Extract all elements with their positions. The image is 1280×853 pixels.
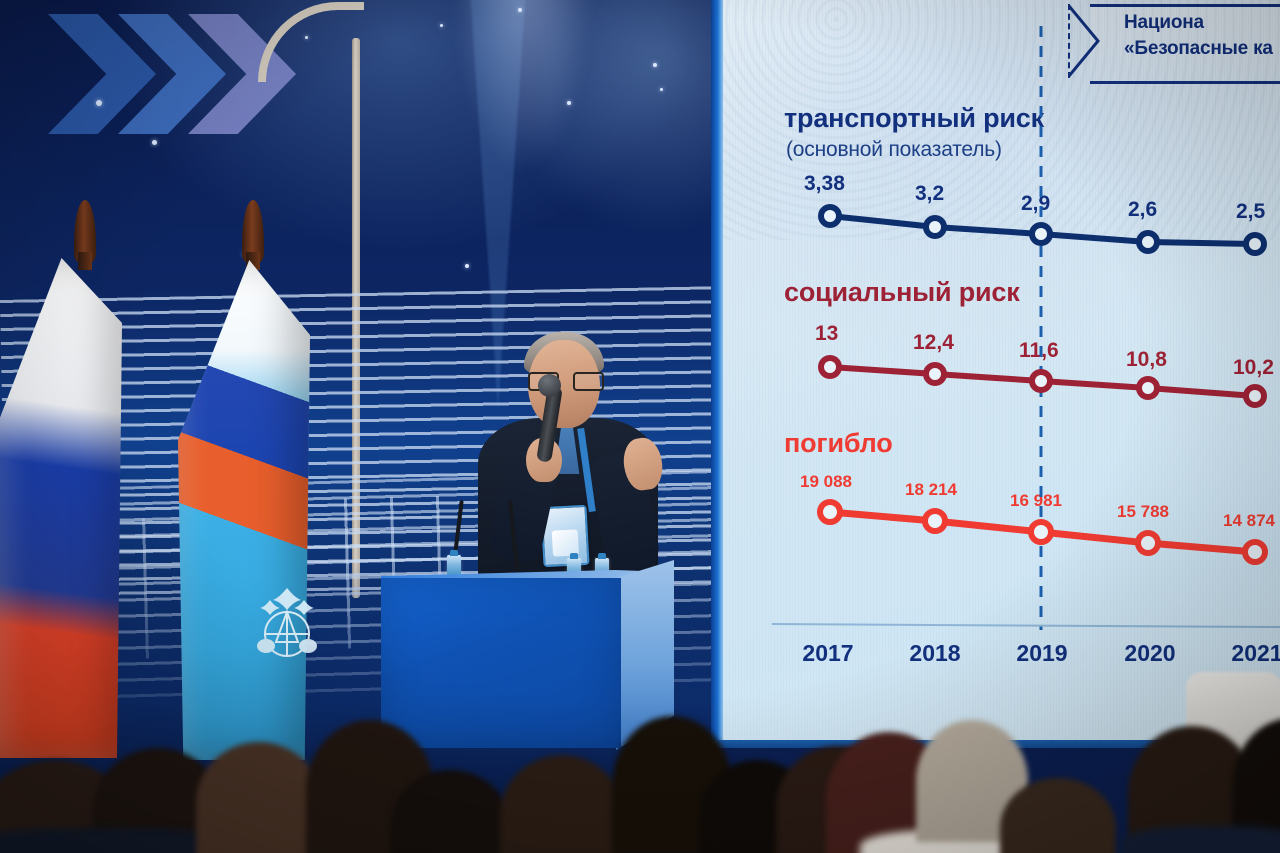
x-axis-label-2021: 2021 — [1231, 640, 1280, 667]
podium-front-panel — [381, 578, 621, 748]
conference-photo-stage: Национа «Безопасные ка транспортный риск… — [0, 0, 1280, 853]
value-label-social-2021: 10,2 — [1233, 356, 1274, 380]
value-label-social-2017: 13 — [815, 322, 838, 346]
audience-head — [196, 742, 322, 853]
value-label-social-2018: 12,4 — [913, 331, 954, 355]
banner-line-2: «Безопасные ка — [1124, 36, 1280, 62]
chart-series-label-social-risk: социальный риск — [784, 277, 1020, 308]
flag-finial — [242, 200, 264, 262]
pylon-top-glow — [448, 0, 598, 190]
x-axis-label-2017: 2017 — [802, 640, 853, 667]
value-label-deaths-2017: 19 088 — [800, 472, 852, 492]
value-label-transport-2020: 2,6 — [1128, 198, 1157, 222]
transport-ministry-emblem — [246, 572, 328, 668]
chart-series-label-transport-risk: транспортный риск — [784, 103, 1044, 134]
national-project-banner: Национа «Безопасные ка — [1068, 4, 1280, 80]
value-label-transport-2018: 3,2 — [915, 182, 944, 206]
x-axis-label-2019: 2019 — [1016, 640, 1067, 667]
street-lamp-arm — [258, 2, 364, 82]
value-label-deaths-2020: 15 788 — [1117, 502, 1169, 522]
ministry-of-transport-flag — [200, 200, 370, 770]
banner-text: Национа «Безопасные ка — [1124, 10, 1280, 62]
audience-shoulder — [1120, 826, 1280, 853]
screen-left-edge — [711, 0, 723, 748]
x-axis-label-2018: 2018 — [909, 640, 960, 667]
banner-arrow-notch — [1068, 4, 1102, 78]
water-bottle-1 — [447, 555, 461, 577]
value-label-deaths-2018: 18 214 — [905, 480, 957, 500]
chart-series-label-deaths: погибло — [784, 428, 893, 459]
x-axis-label-2020: 2020 — [1124, 640, 1175, 667]
banner-line-1: Национа — [1124, 10, 1280, 36]
value-label-deaths-2019: 16 981 — [1010, 491, 1062, 511]
value-label-transport-2019: 2,9 — [1021, 192, 1050, 216]
value-label-transport-2017: 3,38 — [804, 172, 845, 196]
chart-series-sublabel-transport-risk: (основной показатель) — [786, 138, 1002, 162]
value-label-deaths-2021: 14 874 — [1223, 511, 1275, 531]
russian-federation-flag — [30, 200, 180, 760]
value-label-social-2019: 11,6 — [1019, 339, 1059, 363]
value-label-transport-2021: 2,5 — [1236, 200, 1265, 224]
value-label-social-2020: 10,8 — [1126, 348, 1167, 372]
flag-finial — [74, 200, 96, 262]
